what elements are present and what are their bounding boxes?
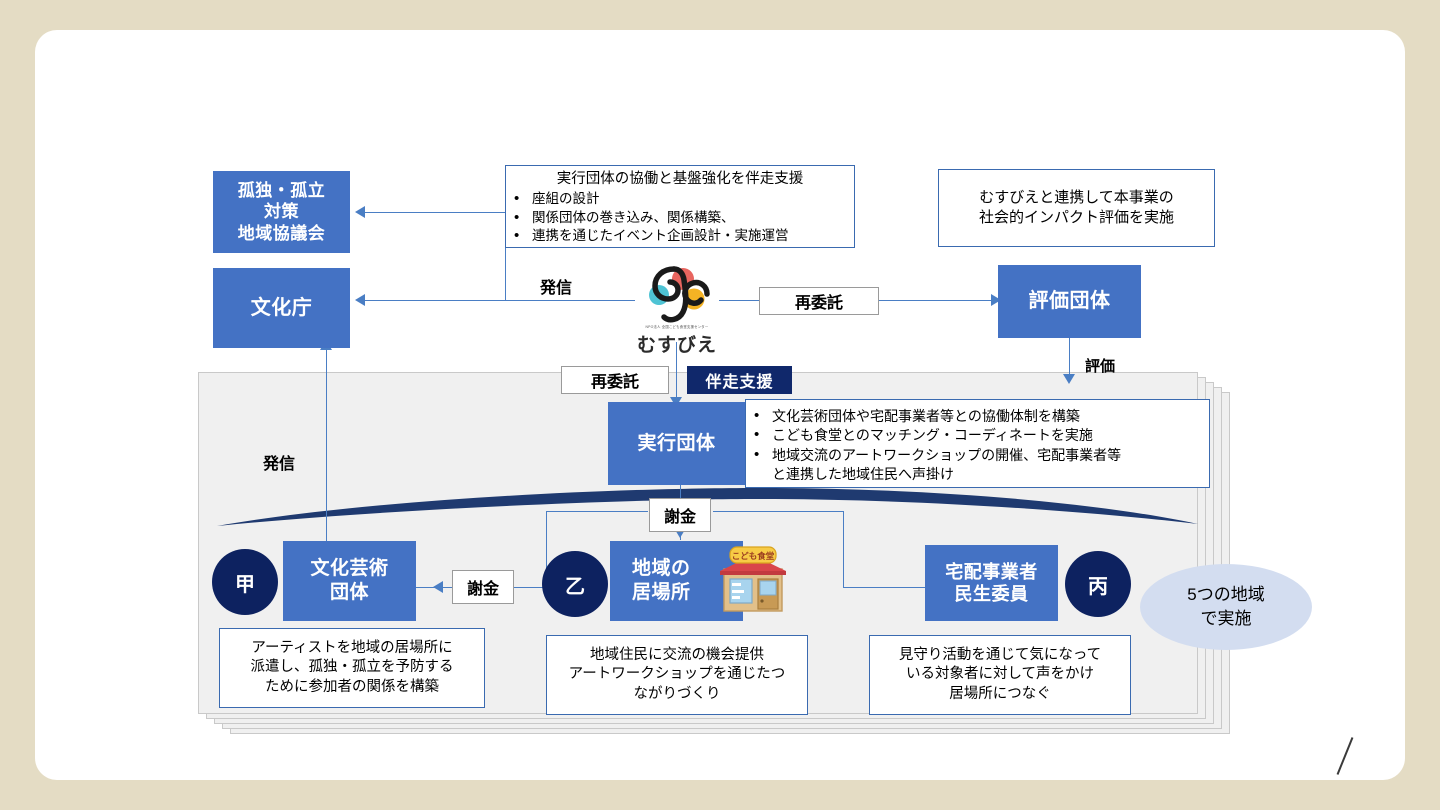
chiiki-ibasho-line-2: 居場所 bbox=[632, 581, 691, 605]
kodoku-line-2: 対策 bbox=[264, 201, 299, 222]
jikkou-dantai-panel: 文化芸術団体や宅配事業者等との協働体制を構築 こども食堂とのマッチング・コーディ… bbox=[745, 399, 1210, 488]
note-kou-line-1: アーティストを地域の居場所に bbox=[251, 639, 454, 659]
support-item-1: 座組の設計 bbox=[506, 190, 789, 209]
circle-badge-otsu: 乙 bbox=[542, 551, 608, 617]
line-hasshin-to-bunkacho bbox=[326, 348, 327, 545]
support-panel-heading: 実行団体の協働と基盤強化を伴走支援 bbox=[506, 170, 854, 190]
label-saitaku-right: 再委託 bbox=[759, 287, 879, 315]
diagram-canvas: 孤独・孤立 対策 地域協議会 文化庁 実行団体の協働と基盤強化を伴走支援 座組の… bbox=[0, 0, 1440, 810]
note-otsu-line-2: アートワークショップを通じたつ bbox=[569, 665, 786, 685]
support-item-3: 連携を通じたイベント企画設計・実施運営 bbox=[506, 227, 789, 246]
jikkou-item-3: 地域交流のアートワークショップの開催、宅配事業者等 bbox=[746, 446, 1121, 465]
musubie-logo-caption: NPO法人 全国こども食堂支援センター bbox=[633, 324, 721, 329]
eval-note-line-1: むすびえと連携して本事業の bbox=[979, 188, 1174, 208]
jikkou-dantai-box[interactable]: 実行団体 bbox=[608, 402, 745, 485]
musubie-wordmark: むすびえ bbox=[633, 330, 721, 357]
line-musubie-to-left bbox=[505, 300, 635, 301]
bunka-geijutsu-line-1: 文化芸術 bbox=[310, 557, 388, 581]
slide-surface: 孤独・孤立 対策 地域協議会 文化庁 実行団体の協働と基盤強化を伴走支援 座組の… bbox=[35, 30, 1405, 780]
jikkou-panel-list: 文化芸術団体や宅配事業者等との協働体制を構築 こども食堂とのマッチング・コーディ… bbox=[746, 407, 1121, 484]
bunkacho-label: 文化庁 bbox=[251, 296, 313, 321]
support-panel: 実行団体の協働と基盤強化を伴走支援 座組の設計 関係団体の巻き込み、関係構築、 … bbox=[505, 165, 855, 248]
line-to-takuhai-box bbox=[843, 587, 929, 588]
jikkou-item-1: 文化芸術団体や宅配事業者等との協働体制を構築 bbox=[746, 407, 1121, 426]
ellipse-line-1: 5つの地域 bbox=[1187, 583, 1264, 607]
evaluation-note-panel: むすびえと連携して本事業の 社会的インパクト評価を実施 bbox=[938, 169, 1215, 247]
circle-badge-hei: 丙 bbox=[1065, 551, 1131, 617]
takuhai-line-1: 宅配事業者 bbox=[945, 561, 1038, 584]
bunka-geijutsu-dantai-box[interactable]: 文化芸術 団体 bbox=[283, 541, 416, 621]
note-kou-line-3: ために参加者の関係を構築 bbox=[251, 678, 454, 698]
support-item-2: 関係団体の巻き込み、関係構築、 bbox=[506, 209, 789, 228]
line-to-bunkacho-box bbox=[365, 300, 506, 301]
line-shakin-down bbox=[680, 533, 681, 540]
five-regions-ellipse: 5つの地域 で実施 bbox=[1140, 564, 1312, 650]
bunkacho-box[interactable]: 文化庁 bbox=[213, 268, 350, 348]
arrow-hyouka-evaluation bbox=[1063, 374, 1075, 384]
arrow-into-bunkacho-box bbox=[355, 294, 365, 306]
note-panel-otsu: 地域住民に交流の機会提供 アートワークショップを通じたつ ながりづくり bbox=[546, 635, 808, 715]
label-shakin-left: 謝金 bbox=[452, 570, 514, 604]
eval-note-line-2: 社会的インパクト評価を実施 bbox=[979, 208, 1174, 228]
arrow-into-kodoku-box bbox=[355, 206, 365, 218]
badge-bansou-shien: 伴走支援 bbox=[687, 366, 792, 394]
support-panel-list: 座組の設計 関係団体の巻き込み、関係構築、 連携を通じたイベント企画設計・実施運… bbox=[506, 190, 789, 246]
note-hei-line-3: 居場所につなぐ bbox=[899, 685, 1101, 705]
label-hyouka-arrow: 評価 bbox=[1085, 355, 1115, 376]
kodoku-kyogikai-box[interactable]: 孤独・孤立 対策 地域協議会 bbox=[213, 171, 350, 253]
hyouka-dantai-box[interactable]: 評価団体 bbox=[998, 265, 1141, 338]
label-saitaku-left: 再委託 bbox=[561, 366, 669, 394]
line-shakin-branch-right bbox=[713, 511, 843, 512]
line-shakin-branch-right-down bbox=[843, 511, 844, 587]
bunka-geijutsu-line-2: 団体 bbox=[330, 581, 369, 605]
kodoku-line-1: 孤独・孤立 bbox=[238, 180, 326, 201]
jikkou-dantai-label: 実行団体 bbox=[637, 432, 715, 456]
line-musubie-to-saitaku bbox=[719, 300, 759, 301]
jikkou-item-2: こども食堂とのマッチング・コーディネートを実施 bbox=[746, 426, 1121, 445]
label-hasshin-top: 発信 bbox=[540, 274, 572, 298]
hyouka-dantai-label: 評価団体 bbox=[1029, 289, 1111, 314]
note-hei-line-2: いる対象者に対して声をかけ bbox=[899, 665, 1101, 685]
kodoku-line-3: 地域協議会 bbox=[238, 223, 326, 244]
label-shakin-top: 謝金 bbox=[649, 498, 711, 532]
musubie-logo: NPO法人 全国こども食堂支援センター むすびえ bbox=[633, 264, 721, 352]
note-otsu-line-3: ながりづくり bbox=[569, 685, 786, 705]
musubie-logo-mark bbox=[633, 264, 721, 326]
ellipse-line-2: で実施 bbox=[1187, 607, 1264, 631]
line-shakin-branch-left bbox=[546, 511, 648, 512]
slash-mark-decoration bbox=[1337, 737, 1354, 775]
line-to-kodoku-box bbox=[365, 212, 506, 213]
note-panel-hei: 見守り活動を通じて気になって いる対象者に対して声をかけ 居場所につなぐ bbox=[869, 635, 1131, 715]
chiiki-ibasho-line-1: 地域の bbox=[632, 557, 691, 581]
line-saitaku-to-hyouka bbox=[879, 300, 994, 301]
svg-text:こども食堂: こども食堂 bbox=[732, 551, 775, 561]
note-kou-line-2: 派遣し、孤独・孤立を予防する bbox=[251, 658, 454, 678]
note-panel-kou: アーティストを地域の居場所に 派遣し、孤独・孤立を予防する ために参加者の関係を… bbox=[219, 628, 485, 708]
line-hyouka-down bbox=[1069, 337, 1070, 379]
circle-badge-kou: 甲 bbox=[212, 549, 278, 615]
takuhai-minsei-box[interactable]: 宅配事業者 民生委員 bbox=[925, 545, 1058, 621]
note-hei-line-1: 見守り活動を通じて気になって bbox=[899, 646, 1101, 666]
note-otsu-line-1: 地域住民に交流の機会提供 bbox=[569, 646, 786, 666]
kodomo-shokudo-illustration: こども食堂 bbox=[714, 543, 792, 615]
jikkou-item-3-cont: と連携した地域住民へ声掛け bbox=[746, 465, 1121, 484]
label-hasshin-left: 発信 bbox=[263, 450, 295, 474]
takuhai-line-2: 民生委員 bbox=[955, 583, 1029, 606]
